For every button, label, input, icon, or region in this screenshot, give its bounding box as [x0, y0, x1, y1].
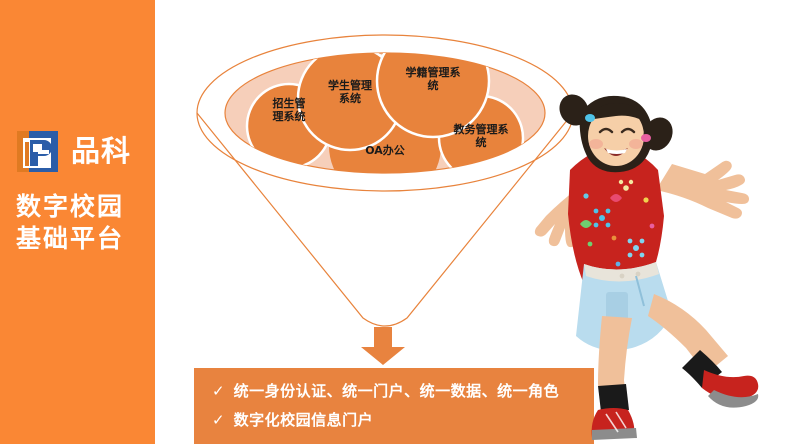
check-icon: ✓ — [212, 410, 225, 430]
left-sidebar: 品科 数字校园 基础平台 — [0, 0, 155, 444]
sidebar-tagline-line2: 基础平台 — [16, 226, 124, 251]
callout-item-text: 数字化校园信息门户 — [234, 410, 374, 430]
callout-item: ✓ 数字化校园信息门户 — [212, 410, 594, 430]
sidebar-tagline-line1: 数字校园 — [16, 194, 124, 219]
pinke-square-logo-icon — [16, 128, 62, 174]
check-icon: ✓ — [212, 381, 225, 401]
callout-item-text: 统一身份认证、统一门户、统一数据、统一角色 — [234, 381, 560, 401]
slide-canvas: 品科 数字校园 基础平台 — [0, 0, 801, 444]
arrow-down-icon — [361, 327, 405, 365]
callout-box: ✓ 统一身份认证、统一门户、统一数据、统一角色 ✓ 数字化校园信息门户 — [194, 368, 594, 444]
callout-item: ✓ 统一身份认证、统一门户、统一数据、统一角色 — [212, 381, 594, 401]
brand-name: 品科 — [71, 137, 131, 166]
brand-row: 品科 — [16, 128, 131, 174]
funnel-diagram: 招生管 理系统 学生管理 系统 学籍管理系 统 教务管理系 统 OA办公 — [185, 18, 585, 328]
